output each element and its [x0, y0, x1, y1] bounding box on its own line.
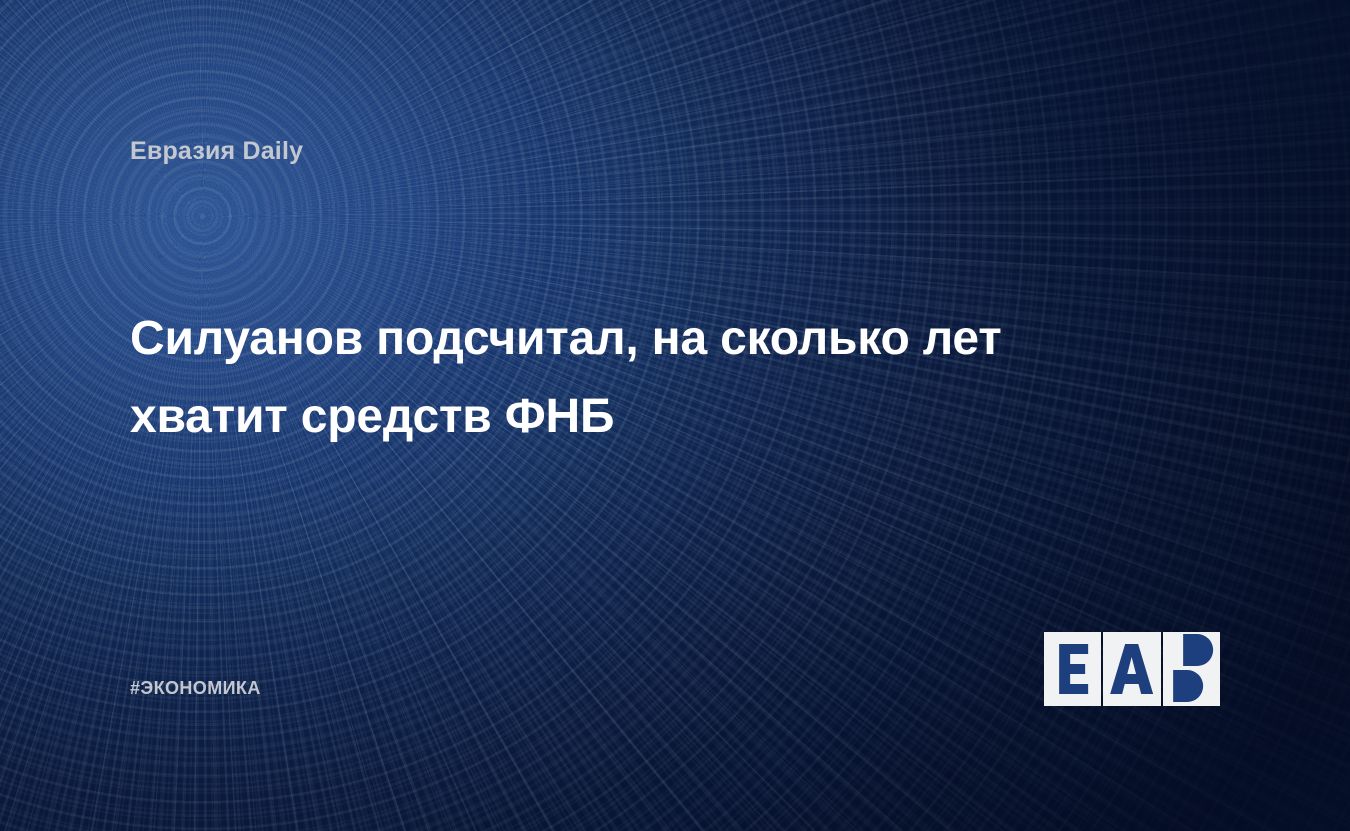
logo-tile-a — [1103, 632, 1160, 706]
page-title: Силуанов подсчитал, на сколько лет хвати… — [130, 300, 1140, 456]
brand-name: Евразия Daily — [130, 137, 303, 166]
logo-tile-d — [1163, 632, 1220, 706]
logo-letter-d-split-icon — [1163, 632, 1220, 706]
eadaily-logo — [1044, 632, 1220, 706]
logo-letter-a-icon — [1103, 632, 1160, 706]
logo-letter-e-icon — [1044, 632, 1101, 706]
category-tag: #ЭКОНОМИКА — [130, 678, 261, 699]
social-share-card: Евразия Daily Силуанов подсчитал, на ско… — [0, 0, 1350, 831]
logo-tile-e — [1044, 632, 1101, 706]
